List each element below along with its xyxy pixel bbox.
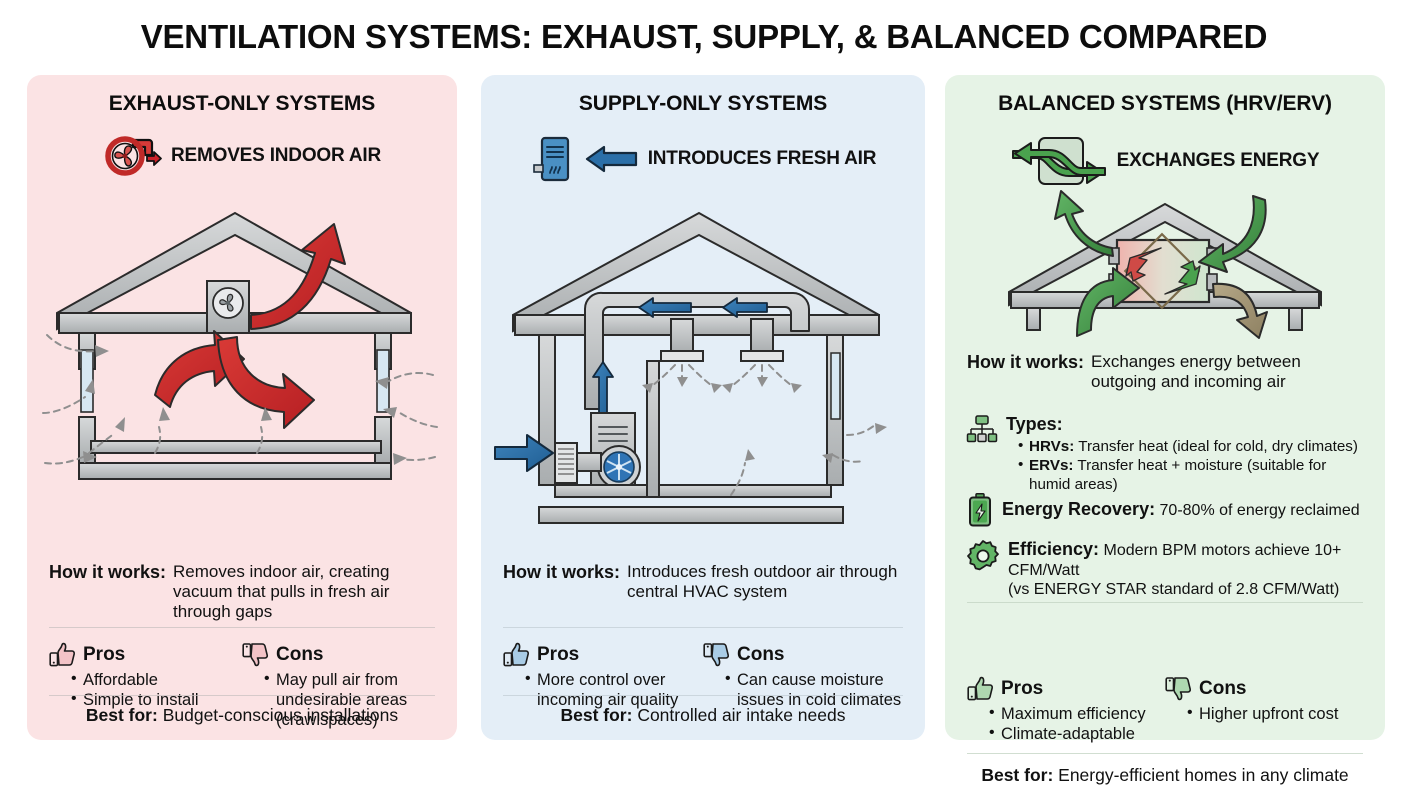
- divider-bottom-balanced: [967, 753, 1363, 754]
- cons-label-supply: Cons: [737, 644, 785, 666]
- best-for-value-exhaust: Budget-conscious installations: [163, 705, 398, 725]
- how-value-supply: Introduces fresh outdoor air through cen…: [627, 562, 903, 602]
- pros-list-balanced: Maximum efficiency Climate-adaptable: [967, 704, 1165, 744]
- efficiency-section: Efficiency: Modern BPM motors achieve 10…: [967, 533, 1363, 599]
- arrow-left-icon: [584, 145, 638, 173]
- cons-list-balanced: Higher upfront cost: [1165, 704, 1363, 724]
- page-title: VENTILATION SYSTEMS: EXHAUST, SUPPLY, & …: [0, 18, 1408, 56]
- divider-top-exhaust: [49, 627, 435, 628]
- list-item: Higher upfront cost: [1187, 704, 1363, 724]
- cons-label-balanced: Cons: [1199, 678, 1247, 700]
- headline-exhaust: REMOVES INDOOR AIR: [27, 135, 457, 177]
- type-desc-hrv: Transfer heat (ideal for cold, dry clima…: [1078, 438, 1358, 455]
- list-item: Maximum efficiency: [989, 704, 1165, 724]
- energy-recovery-section: Energy Recovery: 70-80% of energy reclai…: [967, 486, 1363, 527]
- pros-column-supply: Pros More control over incoming air qual…: [503, 642, 703, 710]
- infographic-root: VENTILATION SYSTEMS: EXHAUST, SUPPLY, & …: [0, 0, 1408, 768]
- type-term-hrv: HRVs:: [1029, 438, 1074, 455]
- panel-title-exhaust: EXHAUST-ONLY SYSTEMS: [27, 92, 457, 116]
- pros-cons-balanced: Pros Maximum efficiency Climate-adaptabl…: [967, 676, 1363, 744]
- list-item: HRVs: Transfer heat (ideal for cold, dry…: [1018, 437, 1363, 456]
- divider-bottom-supply: [503, 695, 903, 696]
- thumbs-up-icon: [967, 676, 994, 702]
- how-it-works-balanced: How it works: Exchanges energy between o…: [967, 352, 1363, 392]
- cons-column-supply: Cons Can cause moisture issues in cold c…: [703, 642, 903, 710]
- cons-label-exhaust: Cons: [276, 644, 324, 666]
- hierarchy-icon: [967, 415, 997, 443]
- how-label-exhaust: How it works:: [49, 562, 166, 583]
- list-item: Affordable: [71, 670, 242, 690]
- battery-icon: [967, 493, 993, 527]
- best-for-value-supply: Controlled air intake needs: [637, 705, 845, 725]
- energy-label: Energy Recovery:: [1002, 499, 1155, 519]
- pros-cons-supply: Pros More control over incoming air qual…: [503, 642, 903, 710]
- energy-exchange-icon: [1011, 135, 1107, 187]
- types-label: Types:: [1006, 414, 1363, 436]
- divider-top-balanced: [967, 602, 1363, 603]
- divider-bottom-exhaust: [49, 695, 435, 696]
- best-for-label-balanced: Best for:: [981, 765, 1053, 785]
- energy-value: 70-80% of energy reclaimed: [1160, 502, 1360, 519]
- best-for-supply: Best for: Controlled air intake needs: [503, 705, 903, 726]
- how-it-works-exhaust: How it works: Removes indoor air, creati…: [49, 562, 435, 622]
- exhaust-house-diagram: [37, 195, 447, 545]
- how-value-exhaust: Removes indoor air, creating vacuum that…: [173, 562, 435, 622]
- type-term-erv: ERVs:: [1029, 457, 1073, 474]
- thumbs-up-icon: [49, 642, 76, 668]
- pros-column-balanced: Pros Maximum efficiency Climate-adaptabl…: [967, 676, 1165, 744]
- headline-text-exhaust: REMOVES INDOOR AIR: [171, 145, 381, 167]
- best-for-exhaust: Best for: Budget-conscious installations: [49, 705, 435, 726]
- gear-icon: [967, 540, 999, 572]
- list-item: Climate-adaptable: [989, 724, 1165, 744]
- types-section: Types: HRVs: Transfer heat (ideal for co…: [967, 408, 1363, 494]
- how-label-supply: How it works:: [503, 562, 620, 583]
- headline-supply: INTRODUCES FRESH AIR: [481, 135, 925, 183]
- efficiency-label: Efficiency:: [1008, 539, 1099, 559]
- thumbs-down-icon: [242, 642, 269, 668]
- exhaust-fan-icon: [103, 135, 161, 177]
- best-for-balanced: Best for: Energy-efficient homes in any …: [967, 765, 1363, 786]
- divider-top-supply: [503, 627, 903, 628]
- panel-title-supply: SUPPLY-ONLY SYSTEMS: [481, 92, 925, 116]
- how-label-balanced: How it works:: [967, 352, 1084, 373]
- best-for-label-supply: Best for:: [560, 705, 632, 725]
- efficiency-value-2: (vs ENERGY STAR standard of 2.8 CFM/Watt…: [1008, 580, 1363, 599]
- cons-column-balanced: Cons Higher upfront cost: [1165, 676, 1363, 744]
- thumbs-up-icon: [503, 642, 530, 668]
- supply-house-diagram: [495, 195, 911, 545]
- how-value-balanced: Exchanges energy between outgoing and in…: [1091, 352, 1363, 392]
- pros-label-supply: Pros: [537, 644, 579, 666]
- pros-label-balanced: Pros: [1001, 678, 1043, 700]
- pros-label-exhaust: Pros: [83, 644, 125, 666]
- panel-title-balanced: BALANCED SYSTEMS (HRV/ERV): [945, 92, 1385, 116]
- panel-supply-only: SUPPLY-ONLY SYSTEMS: [481, 75, 925, 740]
- panel-balanced: BALANCED SYSTEMS (HRV/ERV) EXCHANGES ENE…: [945, 75, 1385, 740]
- panel-exhaust-only: EXHAUST-ONLY SYSTEMS REMOVES INDOOR AIR: [27, 75, 457, 740]
- how-it-works-supply: How it works: Introduces fresh outdoor a…: [503, 562, 903, 602]
- air-handler-icon: [530, 135, 574, 183]
- best-for-label-exhaust: Best for:: [86, 705, 158, 725]
- headline-text-supply: INTRODUCES FRESH AIR: [648, 148, 877, 170]
- balanced-house-diagram: [965, 190, 1365, 350]
- headline-balanced: EXCHANGES ENERGY: [945, 135, 1385, 187]
- headline-text-balanced: EXCHANGES ENERGY: [1117, 150, 1320, 172]
- best-for-value-balanced: Energy-efficient homes in any climate: [1058, 765, 1349, 785]
- thumbs-down-icon: [703, 642, 730, 668]
- thumbs-down-icon: [1165, 676, 1192, 702]
